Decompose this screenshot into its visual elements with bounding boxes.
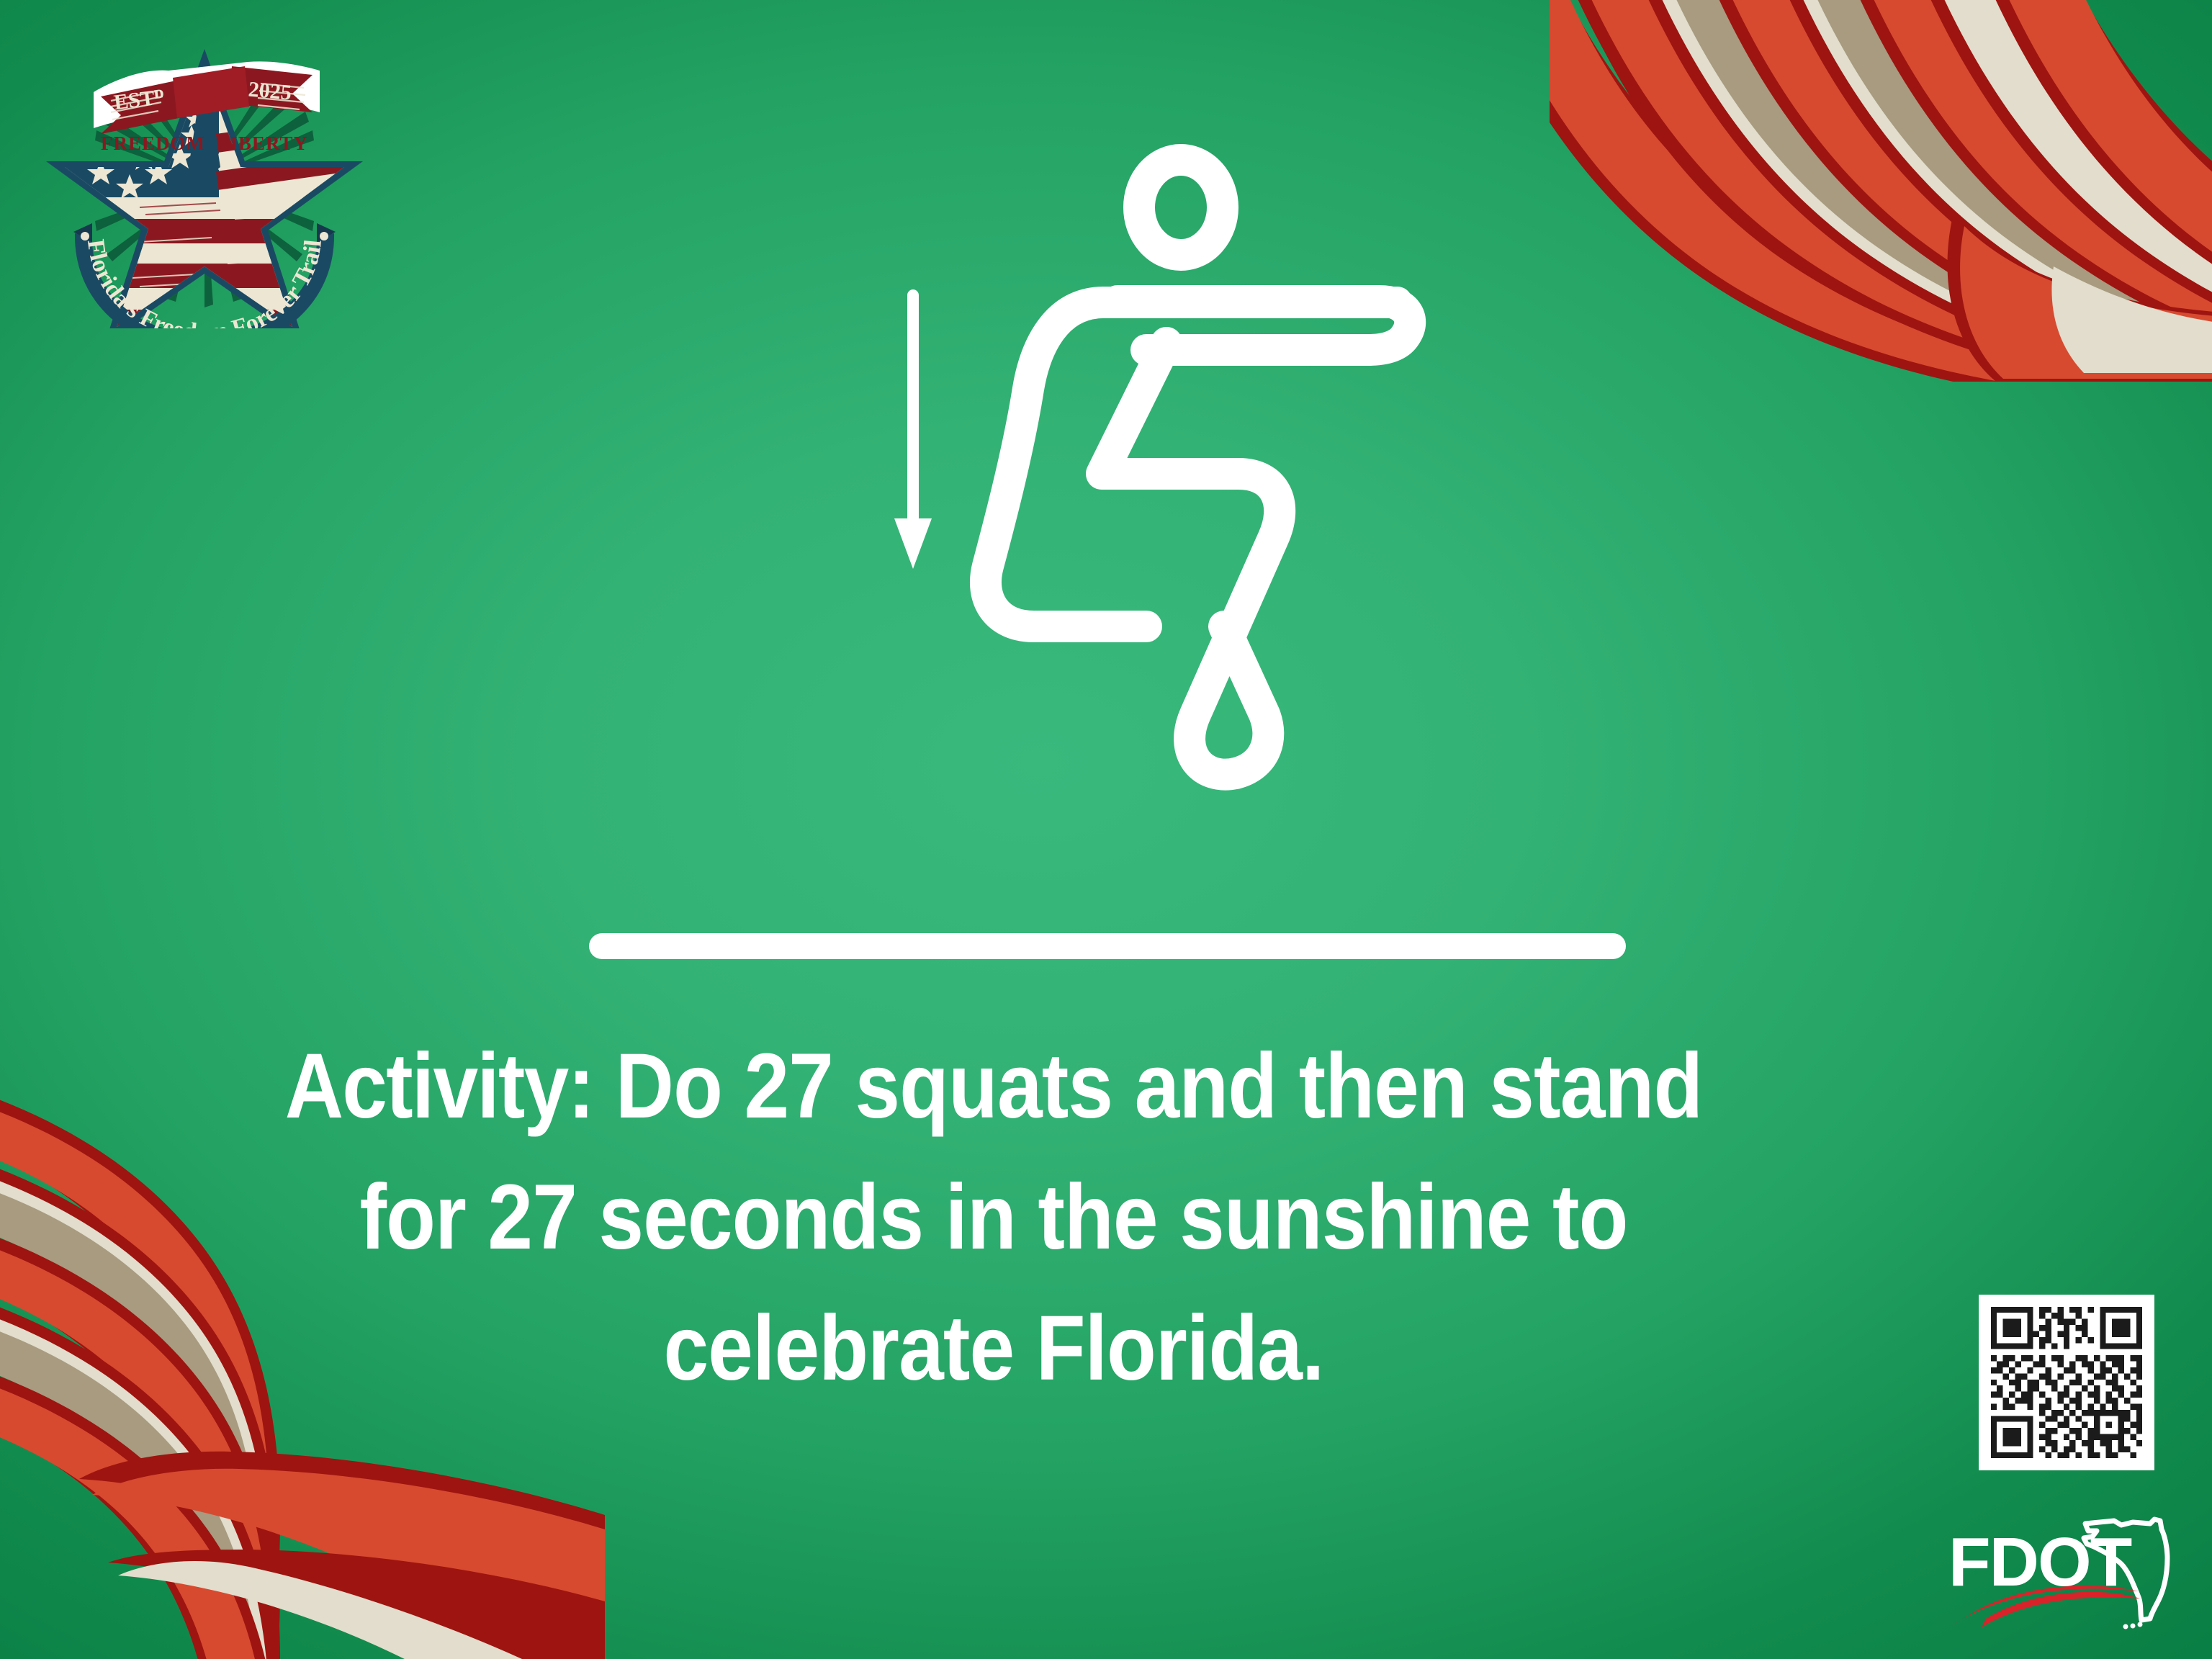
seal-word-freedom: FREEDOM bbox=[101, 132, 205, 154]
down-arrow-icon bbox=[894, 289, 932, 569]
seal-word-liberty: LIBERTY bbox=[216, 132, 308, 154]
white-rule-bar bbox=[589, 933, 1626, 959]
american-flag-decoration-top-right bbox=[1550, 0, 2212, 382]
florida-freedom-forever-trail-seal: Florida's Freedom Forever Trail bbox=[32, 26, 377, 328]
florida-keys-dots bbox=[2123, 1622, 2143, 1629]
headline-lede: Activity: bbox=[285, 1035, 594, 1138]
poster-canvas: Florida's Freedom Forever Trail bbox=[0, 0, 2212, 1659]
seal-banner-year: 2025 bbox=[248, 77, 293, 104]
qr-code[interactable] bbox=[1979, 1295, 2154, 1470]
fdot-logo: FDOT bbox=[1944, 1511, 2212, 1640]
activity-headline: Activity: Do 27 squats and then stand fo… bbox=[233, 1021, 1754, 1413]
extended-arm bbox=[1118, 301, 1410, 350]
squat-pictogram bbox=[864, 130, 1469, 936]
person-squat-icon bbox=[986, 160, 1397, 775]
fdot-wordmark: FDOT bbox=[1948, 1524, 2132, 1601]
